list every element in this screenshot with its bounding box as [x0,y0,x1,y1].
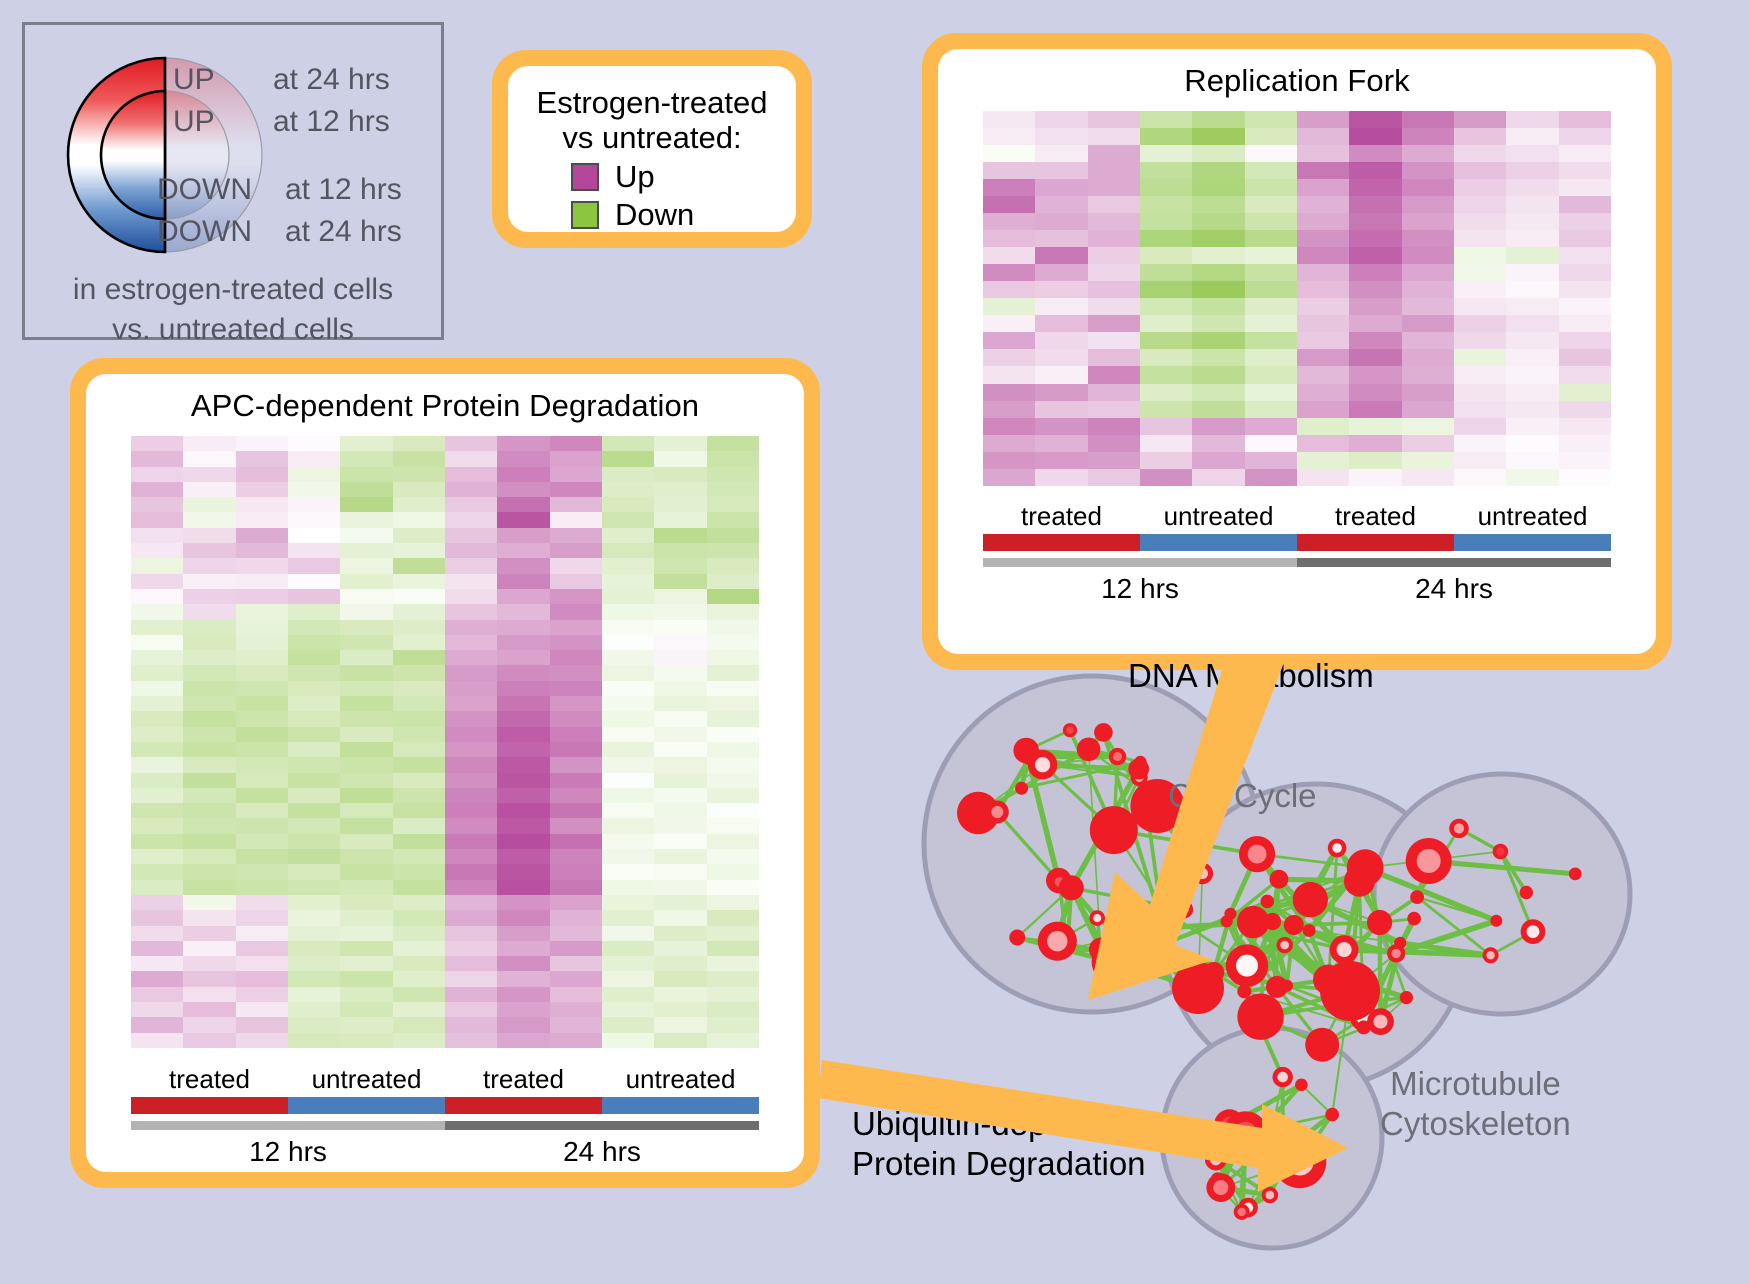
heatmap-cell [340,543,392,558]
network-node[interactable] [1284,915,1304,935]
heatmap-cell [654,941,706,956]
heatmap-cell [654,620,706,635]
heatmap-cell [707,681,759,696]
network-node[interactable] [1226,944,1268,986]
heatmap-cell [550,451,602,466]
heatmap-cell [1140,179,1192,196]
heatmap-cell [707,757,759,772]
heatmap-cell [707,956,759,971]
network-node[interactable] [1303,924,1316,937]
heatmap-cell [183,574,235,589]
heatmap-cell [654,773,706,788]
heatmap-row [131,543,759,558]
heatmap-cell [550,665,602,680]
heatmap-cell [654,635,706,650]
heatmap-cell [602,681,654,696]
heatmap-cell [1402,281,1454,298]
heatmap-cell [497,742,549,757]
heatmap-cell [1506,349,1558,366]
heatmap-row [983,366,1611,383]
heatmap-cell [1192,196,1244,213]
heatmap-cell [602,1017,654,1032]
heatmap-cell [1349,315,1401,332]
heatmap-cell [445,543,497,558]
heatmap-cell [1454,384,1506,401]
network-node[interactable] [1407,912,1421,926]
sample-color-segment [1297,534,1454,551]
heatmap-cell [602,987,654,1002]
network-node[interactable] [1281,980,1293,992]
heatmap-apc-dependent [131,436,759,1048]
heatmap-cell [983,281,1035,298]
network-node[interactable] [1490,915,1502,927]
heatmap-cell [1559,128,1611,145]
network-node[interactable] [1038,922,1077,961]
heatmap-cell [497,650,549,665]
heatmap-cell [550,696,602,711]
network-node[interactable] [1059,875,1084,900]
heatmap-cell [1140,384,1192,401]
heatmap-cell [1245,111,1297,128]
network-node[interactable] [1109,748,1126,765]
heatmap-cell [1454,418,1506,435]
heatmap-cell [183,773,235,788]
heatmap-row [131,436,759,451]
heatmap-cell [1349,162,1401,179]
time-color-bar [983,558,1611,567]
heatmap-cell [183,512,235,527]
heatmap-cell [236,788,288,803]
network-node[interactable] [1094,723,1113,742]
key-label-up-12: UP [173,107,215,137]
network-node[interactable] [1449,819,1469,839]
network-node[interactable] [1273,1067,1293,1087]
heatmap-cell [393,528,445,543]
heatmap-cell [131,742,183,757]
network-node[interactable] [1206,1173,1235,1202]
heatmap-row [983,264,1611,281]
network-node[interactable] [1205,1149,1227,1171]
key-label-down-24: DOWN [157,217,252,247]
heatmap-cell [497,497,549,512]
network-node-core [1127,953,1135,961]
heatmap-cell [707,987,759,1002]
network-node-core [1392,949,1401,958]
network-node[interactable] [1328,839,1347,858]
heatmap-cell [602,482,654,497]
color-key-box: UP at 24 hrs UP at 12 hrs DOWN at 12 hrs… [22,22,444,340]
legend-title-line1: Estrogen-treated [508,86,796,121]
network-node[interactable] [1493,844,1509,860]
heatmap-cell [707,773,759,788]
heatmap-cell [288,864,340,879]
network-node[interactable] [1223,1111,1267,1155]
heatmap-cell [602,895,654,910]
network-node-core [1374,1015,1388,1029]
heatmap-cell [550,1002,602,1017]
heatmap-cell [550,910,602,925]
legend-swatch-down [571,201,599,229]
heatmap-cell [236,589,288,604]
heatmap-cell [1559,332,1611,349]
heatmap-cell [445,665,497,680]
heatmap-cell [236,987,288,1002]
network-node[interactable] [1262,1187,1278,1203]
time-label: 12 hrs [131,1136,445,1168]
heatmap-cell [393,864,445,879]
network-node[interactable] [1293,882,1328,917]
heatmap-row [131,788,759,803]
heatmap-cell [445,895,497,910]
network-node[interactable] [1009,930,1025,946]
heatmap-cell [183,604,235,619]
heatmap-cell [550,512,602,527]
heatmap-cell [602,818,654,833]
heatmap-cell [445,987,497,1002]
sample-label: untreated [1140,501,1297,532]
heatmap-cell [654,971,706,986]
network-node[interactable] [1239,836,1275,872]
heatmap-cell [654,711,706,726]
network-node[interactable] [1320,961,1380,1021]
heatmap-cell [393,926,445,941]
heatmap-cell [654,818,706,833]
heatmap-cell [1454,179,1506,196]
heatmap-cell [445,818,497,833]
heatmap-cell [1559,230,1611,247]
network-node-disc [1284,915,1304,935]
heatmap-cell [131,727,183,742]
heatmap-cell [236,956,288,971]
heatmap-cell [497,757,549,772]
heatmap-cell [1506,332,1558,349]
heatmap-cell [983,332,1035,349]
heatmap-cell [550,987,602,1002]
heatmap-cell [131,895,183,910]
network-node[interactable] [1089,910,1105,926]
heatmap-cell [1349,213,1401,230]
sample-color-segment [1454,534,1611,551]
heatmap-cell [1192,162,1244,179]
heatmap-row [131,451,759,466]
heatmap-cell [1035,469,1087,486]
heatmap-cell [550,849,602,864]
network-node[interactable] [1520,886,1533,899]
heatmap-cell [1035,384,1087,401]
heatmap-cell [1506,281,1558,298]
network-node[interactable] [1234,1204,1250,1220]
heatmap-cell [707,604,759,619]
heatmap-cell [1297,145,1349,162]
heatmap-cell [654,926,706,941]
heatmap-cell [183,834,235,849]
network-node[interactable] [1367,910,1392,935]
network-node[interactable] [1090,806,1138,854]
network-node[interactable] [1161,906,1175,920]
heatmap-cell [183,436,235,451]
heatmap-cell [183,696,235,711]
heatmap-cell [1140,452,1192,469]
heatmap-cell [340,941,392,956]
heatmap-cell [393,497,445,512]
heatmap-cell [183,880,235,895]
heatmap-cell [1192,435,1244,452]
heatmap-cell [393,849,445,864]
heatmap-cell [1245,145,1297,162]
heatmap-cell [550,956,602,971]
heatmap-cell [1349,179,1401,196]
heatmap-cell [654,512,706,527]
network-node[interactable] [1569,868,1582,881]
network-node[interactable] [1347,849,1384,886]
time-label: 12 hrs [983,573,1297,605]
heatmap-cell [1140,145,1192,162]
heatmap-cell [1245,230,1297,247]
heatmap-cell [288,971,340,986]
heatmap-cell [1245,452,1297,469]
heatmap-cell [1402,264,1454,281]
heatmap-cell [340,987,392,1002]
legend-label-up: Up [615,159,733,195]
heatmap-cell [1349,452,1401,469]
network-node-disc [1077,738,1101,762]
network-node[interactable] [1330,935,1359,964]
heatmap-row [983,128,1611,145]
heatmap-cell [497,895,549,910]
network-node-core [1266,1191,1275,1200]
heatmap-cell [1559,247,1611,264]
heatmap-cell [236,467,288,482]
heatmap-cell [983,298,1035,315]
heatmap-cell [1192,213,1244,230]
time-color-segment [1297,558,1611,567]
heatmap-cell [1349,366,1401,383]
heatmap-cell [602,543,654,558]
network-node-disc [1320,961,1380,1021]
heatmap-replication-fork [983,111,1611,486]
network-node-disc [1394,937,1406,949]
network-node-core [1179,905,1188,914]
cluster-label-cell-cycle: Cell Cycle [1168,776,1317,816]
network-node[interactable] [1028,750,1057,779]
sample-label-row: treateduntreatedtreateduntreated [983,501,1611,532]
network-node[interactable] [1237,994,1283,1040]
heatmap-cell [1402,349,1454,366]
heatmap-cell [1245,196,1297,213]
network-node-core [1035,757,1050,772]
heatmap-cell [707,711,759,726]
network-node[interactable] [1124,950,1139,965]
heatmap-cell [497,558,549,573]
network-node[interactable] [1277,937,1293,953]
heatmap-cell [1559,298,1611,315]
network-node-core [1286,1148,1314,1176]
network-node[interactable] [1258,1158,1273,1173]
heatmap-cell [1349,298,1401,315]
heatmap-row [131,1017,759,1032]
heatmap-cell [393,742,445,757]
network-node[interactable] [1325,1108,1339,1122]
heatmap-cell [1506,315,1558,332]
heatmap-cell [550,436,602,451]
sample-color-segment [1140,534,1297,551]
heatmap-cell [1297,179,1349,196]
heatmap-cell [1454,469,1506,486]
heatmap-cell [183,926,235,941]
heatmap-cell [602,956,654,971]
heatmap-row [131,635,759,650]
heatmap-cell [654,589,706,604]
heatmap-cell [983,366,1035,383]
heatmap-cell [550,497,602,512]
heatmap-cell [497,574,549,589]
heatmap-cell [654,803,706,818]
heatmap-row [983,196,1611,213]
heatmap-cell [1349,196,1401,213]
network-node[interactable] [1063,723,1077,737]
heatmap-cell [1454,366,1506,383]
heatmap-cell [393,880,445,895]
heatmap-cell [1506,128,1558,145]
network-node[interactable] [1264,913,1281,930]
sample-color-segment [131,1097,288,1114]
network-node[interactable] [1015,782,1028,795]
heatmap-cell [1192,179,1244,196]
heatmap-cell [1088,315,1140,332]
heatmap-cell [288,528,340,543]
network-node[interactable] [1400,991,1413,1004]
heatmap-cell [1245,435,1297,452]
network-node-core [1280,941,1289,950]
network-node[interactable] [1305,1028,1339,1062]
heatmap-cell [1402,247,1454,264]
network-node[interactable] [1175,900,1193,918]
heatmap-cell [288,757,340,772]
heatmap-cell [1506,298,1558,315]
heatmap-cell [1088,111,1140,128]
heatmap-cell [1506,247,1558,264]
network-node[interactable] [1151,916,1175,940]
heatmap-cell [1297,281,1349,298]
heatmap-cell [1140,298,1192,315]
network-node[interactable] [1192,863,1213,884]
network-node[interactable] [1270,870,1289,889]
heatmap-cell [288,1033,340,1048]
heatmap-cell [393,971,445,986]
heatmap-cell [707,1002,759,1017]
heatmap-cell [1088,366,1140,383]
network-node-disc [1569,868,1582,881]
heatmap-cell [1402,384,1454,401]
heatmap-cell [288,497,340,512]
heatmap-cell [340,727,392,742]
heatmap-cell [393,788,445,803]
heatmap-cell [1349,247,1401,264]
heatmap-cell [340,849,392,864]
heatmap-cell [288,482,340,497]
network-node[interactable] [1521,919,1546,944]
cluster-label-ubiquitin: Ubiquitin-dependent Protein Degradation [852,1104,1147,1183]
heatmap-cell [1297,128,1349,145]
network-node[interactable] [1077,738,1101,762]
network-node[interactable] [986,801,1009,824]
heatmap-cell [497,451,549,466]
heatmap-cell [983,435,1035,452]
heatmap-cell [1297,401,1349,418]
network-node[interactable] [1273,1135,1326,1188]
network-node-disc [1261,895,1275,909]
network-node-disc [1221,915,1233,927]
heatmap-cell [131,941,183,956]
key-time-down-12: at 12 hrs [285,175,402,205]
network-node[interactable] [1295,1079,1308,1092]
heatmap-cell [393,436,445,451]
heatmap-row [983,213,1611,230]
sample-label: treated [983,501,1140,532]
network-node-core [1234,1122,1257,1145]
heatmap-cell [1192,332,1244,349]
heatmap-cell [707,558,759,573]
heatmap-cell [1245,264,1297,281]
heatmap-cell [1402,332,1454,349]
heatmap-cell [393,543,445,558]
network-node[interactable] [1483,947,1499,963]
heatmap-cell [340,574,392,589]
network-node-core [1248,845,1267,864]
heatmap-cell [288,696,340,711]
heatmap-cell [1402,298,1454,315]
heatmap-cell [602,436,654,451]
heatmap-cell [983,111,1035,128]
network-node-core [1278,1126,1287,1135]
heatmap-cell [288,849,340,864]
network-node[interactable] [1394,937,1406,949]
heatmap-cell [1192,230,1244,247]
heatmap-cell [497,971,549,986]
key-time-up-24: at 24 hrs [273,65,390,95]
heatmap-cell [1245,281,1297,298]
network-node[interactable] [1172,962,1224,1014]
heatmap-cell [1506,111,1558,128]
network-node-core [1486,951,1494,959]
heatmap-row [131,1033,759,1048]
network-node[interactable] [1261,895,1275,909]
heatmap-cell [1140,315,1192,332]
network-node[interactable] [1221,915,1233,927]
heatmap-cell [497,956,549,971]
heatmap-cell [183,543,235,558]
network-node[interactable] [1128,759,1149,780]
heatmap-cell [236,1033,288,1048]
network-node[interactable] [1274,1122,1291,1139]
heatmap-cell [550,834,602,849]
heatmap-cell [340,497,392,512]
heatmap-cell [1192,247,1244,264]
heatmap-cell [288,681,340,696]
heatmap-cell [288,956,340,971]
network-node[interactable] [1406,838,1452,884]
heatmap-cell [340,1033,392,1048]
network-node-core [1197,868,1208,879]
heatmap-cell [1559,213,1611,230]
heatmap-cell [602,1002,654,1017]
heatmap-cell [707,727,759,742]
heatmap-cell [236,665,288,680]
heatmap-cell [183,757,235,772]
heatmap-cell [288,1002,340,1017]
network-node[interactable] [1410,890,1424,904]
heatmap-cell [445,1033,497,1048]
